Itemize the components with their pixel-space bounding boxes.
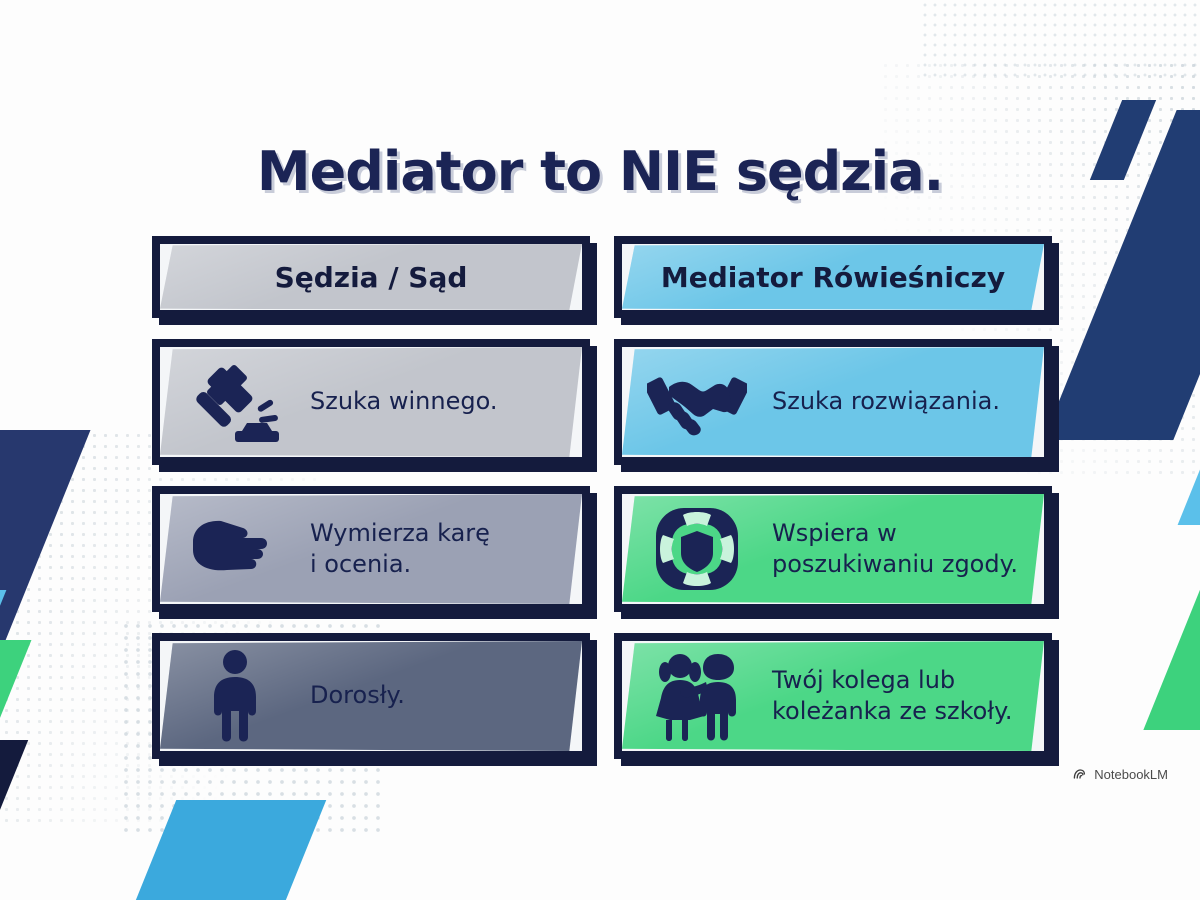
column-header-label: Sędzia / Sąd: [160, 261, 582, 294]
watermark: NotebookLM: [1072, 766, 1168, 782]
pointing-hand-icon: [160, 499, 310, 599]
row-judge-3: Dorosły.: [152, 633, 590, 759]
watermark-label: NotebookLM: [1094, 767, 1168, 782]
lifebuoy-shield-icon: [622, 499, 772, 599]
notebooklm-logo-icon: [1072, 766, 1088, 782]
row-label: Wymierza karę i ocenia.: [310, 518, 504, 580]
row-label: Wspiera w poszukiwaniu zgody.: [772, 518, 1032, 580]
column-peer-mediator: Mediator Rówieśniczy: [614, 236, 1052, 759]
comparison-columns: Sędzia / Sąd: [152, 236, 1052, 759]
column-header-judge: Sędzia / Sąd: [152, 236, 590, 318]
row-judge-1: Szuka winnego.: [152, 339, 590, 465]
two-children-icon: [622, 646, 772, 746]
handshake-icon: [622, 352, 772, 452]
dot-pattern-top-right: [920, 0, 1200, 80]
row-mediator-1: Szuka rozwiązania.: [614, 339, 1052, 465]
row-label: Twój kolega lub koleżanka ze szkoły.: [772, 665, 1027, 727]
gavel-icon: [160, 352, 310, 452]
row-label: Dorosły.: [310, 680, 419, 711]
page-title: Mediator to NIE sędzia.: [0, 140, 1200, 203]
slide-root: Mediator to NIE sędzia. Sędzia / Sąd: [0, 0, 1200, 900]
row-mediator-2: Wspiera w poszukiwaniu zgody.: [614, 486, 1052, 612]
column-judge: Sędzia / Sąd: [152, 236, 590, 759]
column-header-peer-mediator: Mediator Rówieśniczy: [614, 236, 1052, 318]
row-judge-2: Wymierza karę i ocenia.: [152, 486, 590, 612]
row-label: Szuka rozwiązania.: [772, 386, 1014, 417]
adult-person-icon: [160, 646, 310, 746]
row-mediator-3: Twój kolega lub koleżanka ze szkoły.: [614, 633, 1052, 759]
decor-stripe-dark-left: [0, 740, 28, 860]
column-header-label: Mediator Rówieśniczy: [622, 261, 1044, 294]
row-label: Szuka winnego.: [310, 386, 511, 417]
decor-stripe-green-right: [1143, 400, 1200, 730]
